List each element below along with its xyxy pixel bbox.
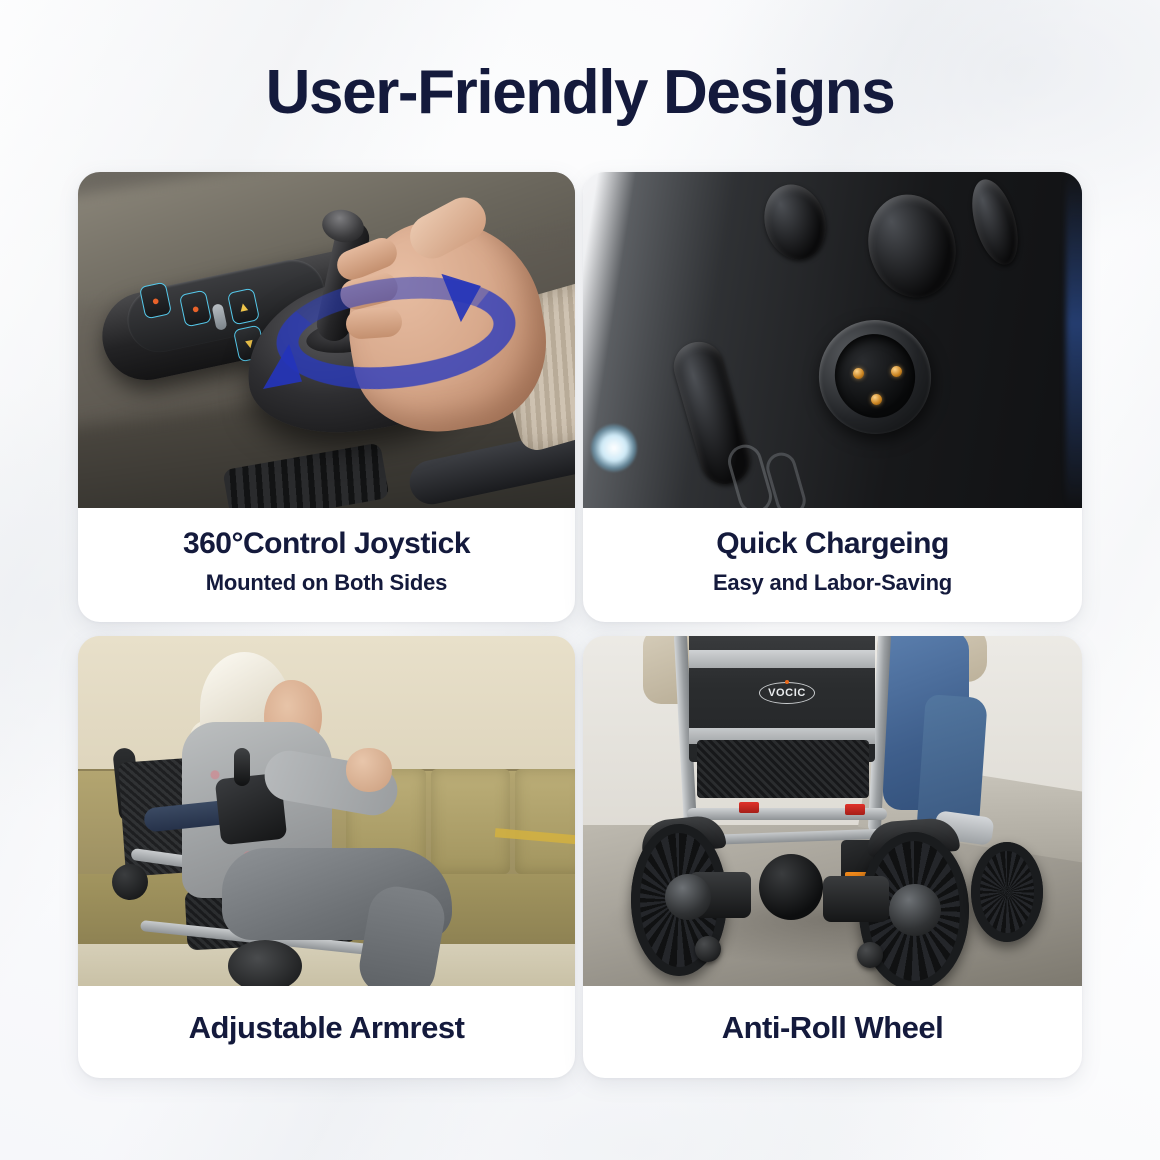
blue-edge-reflection: [1066, 172, 1082, 508]
charging-pin-1: [853, 368, 864, 379]
anti-roll-wheel-right: [857, 942, 883, 968]
anti-roll-wheel-left: [695, 936, 721, 962]
red-release-lever-right: [845, 804, 865, 815]
page-title: User-Friendly Designs: [0, 60, 1160, 125]
joystick-subtitle: Mounted on Both Sides: [206, 570, 447, 596]
armrest-caption: Adjustable Armrest: [78, 986, 575, 1078]
front-castor-wheel: [759, 854, 823, 920]
wheel-hub-left: [665, 874, 711, 920]
charging-pin-3: [871, 394, 882, 405]
antiroll-caption: Anti-Roll Wheel: [583, 986, 1082, 1078]
joystick-photo: ● ● ▲ ▼: [78, 172, 575, 508]
feature-card-armrest[interactable]: Adjustable Armrest: [78, 636, 575, 1078]
feature-card-charging[interactable]: Quick Chargeing Easy and Labor-Saving: [583, 172, 1082, 622]
charging-port-photo: [583, 172, 1082, 508]
armrest-joystick: [234, 748, 250, 786]
hub-motor-right: [823, 876, 889, 922]
wheel-hub-right: [889, 884, 941, 936]
antiroll-title: Anti-Roll Wheel: [722, 1010, 944, 1047]
rear-castor-wheel: [112, 864, 148, 900]
charging-pin-2: [891, 366, 902, 377]
reflective-strip-top: [689, 650, 875, 668]
hand-on-control: [346, 748, 392, 792]
vocic-logo-dot-icon: [785, 680, 789, 684]
antiroll-photo: VOCIC: [583, 636, 1082, 986]
vocic-logo: VOCIC: [759, 682, 815, 704]
joystick-title: 360°Control Joystick: [183, 526, 470, 561]
lens-highlight-glow: [591, 424, 637, 472]
feature-card-antiroll[interactable]: VOCIC Anti-Roll Wheel: [583, 636, 1082, 1078]
charging-title: Quick Chargeing: [716, 526, 949, 561]
sofa-cushion-3: [515, 769, 575, 874]
joystick-caption: 360°Control Joystick Mounted on Both Sid…: [78, 508, 575, 622]
front-wheel: [228, 940, 302, 986]
drive-wheel-far: [971, 842, 1043, 942]
feature-card-joystick[interactable]: ● ● ▲ ▼ 360°Control Joystick Mounted on …: [78, 172, 575, 622]
armrest-photo: [78, 636, 575, 986]
seat-mesh: [697, 740, 869, 798]
sofa-cushion-2: [431, 769, 511, 874]
red-release-lever-left: [739, 802, 759, 813]
charging-subtitle: Easy and Labor-Saving: [713, 570, 952, 596]
armrest-title: Adjustable Armrest: [189, 1010, 465, 1047]
vocic-logo-text: VOCIC: [768, 687, 806, 699]
feature-card-grid: ● ● ▲ ▼ 360°Control Joystick Mounted on …: [78, 172, 1082, 1078]
charging-caption: Quick Chargeing Easy and Labor-Saving: [583, 508, 1082, 622]
